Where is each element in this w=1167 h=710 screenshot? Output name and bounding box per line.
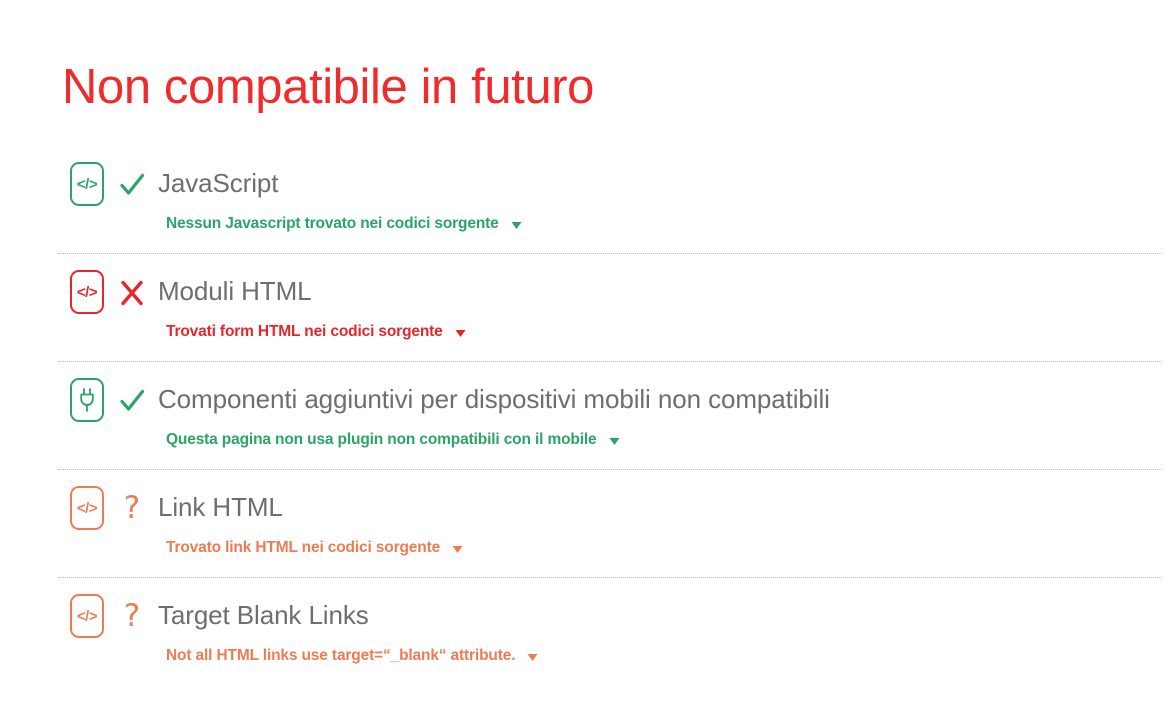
check-mark-icon (112, 167, 152, 200)
chevron-down-icon[interactable] (455, 328, 466, 339)
check-title: JavaScript (158, 168, 1162, 199)
chevron-down-icon[interactable] (609, 436, 620, 447)
chevron-down-icon[interactable] (511, 220, 522, 231)
check-row[interactable]: </> JavaScript Nessun Javascript trovato… (58, 146, 1162, 254)
check-title: Target Blank Links (158, 600, 1162, 631)
code-icon-glyph: </> (77, 501, 97, 516)
check-row-header: </> Moduli HTML (58, 254, 1162, 322)
check-row-header: Componenti aggiuntivi per dispositivi mo… (58, 362, 1162, 430)
check-detail-text: Nessun Javascript trovato nei codici sor… (166, 215, 499, 234)
check-title: Componenti aggiuntivi per dispositivi mo… (158, 384, 1162, 415)
code-icon: </> (70, 486, 104, 530)
report-page: Non compatibile in futuro </> JavaScript… (0, 0, 1167, 710)
check-detail-text: Trovato link HTML nei codici sorgente (166, 539, 440, 558)
check-detail[interactable]: Trovati form HTML nei codici sorgente (58, 323, 1162, 342)
check-list: </> JavaScript Nessun Javascript trovato… (58, 146, 1162, 686)
check-detail[interactable]: Nessun Javascript trovato nei codici sor… (58, 215, 1162, 234)
check-title: Link HTML (158, 492, 1162, 523)
check-detail[interactable]: Not all HTML links use target=“_blank“ a… (58, 647, 1162, 666)
plug-icon (70, 378, 104, 422)
chevron-down-icon[interactable] (527, 652, 538, 663)
code-icon-glyph: </> (77, 285, 97, 300)
check-row[interactable]: </> ? Target Blank Links Not all HTML li… (58, 578, 1162, 686)
check-row[interactable]: </> ? Link HTML Trovato link HTML nei co… (58, 470, 1162, 578)
check-mark-icon (112, 383, 152, 416)
check-detail-text: Questa pagina non usa plugin non compati… (166, 431, 597, 450)
question-mark-icon: ? (112, 493, 152, 524)
check-row-header: </> ? Target Blank Links (58, 578, 1162, 646)
code-icon: </> (70, 270, 104, 314)
code-icon: </> (70, 594, 104, 638)
check-detail[interactable]: Questa pagina non usa plugin non compati… (58, 431, 1162, 450)
check-row-header: </> ? Link HTML (58, 470, 1162, 538)
chevron-down-icon[interactable] (452, 544, 463, 555)
question-mark-icon: ? (112, 601, 152, 632)
code-icon-glyph: </> (77, 609, 97, 624)
check-title: Moduli HTML (158, 276, 1162, 307)
check-detail[interactable]: Trovato link HTML nei codici sorgente (58, 539, 1162, 558)
check-row[interactable]: </> Moduli HTML Trovati form HTML nei co… (58, 254, 1162, 362)
cross-mark-icon (112, 275, 152, 308)
page-title: Non compatibile in futuro (62, 59, 594, 117)
check-detail-text: Trovati form HTML nei codici sorgente (166, 323, 443, 342)
check-row-header: </> JavaScript (58, 146, 1162, 214)
check-row[interactable]: Componenti aggiuntivi per dispositivi mo… (58, 362, 1162, 470)
code-icon-glyph: </> (77, 177, 97, 192)
check-detail-text: Not all HTML links use target=“_blank“ a… (166, 647, 515, 666)
code-icon: </> (70, 162, 104, 206)
